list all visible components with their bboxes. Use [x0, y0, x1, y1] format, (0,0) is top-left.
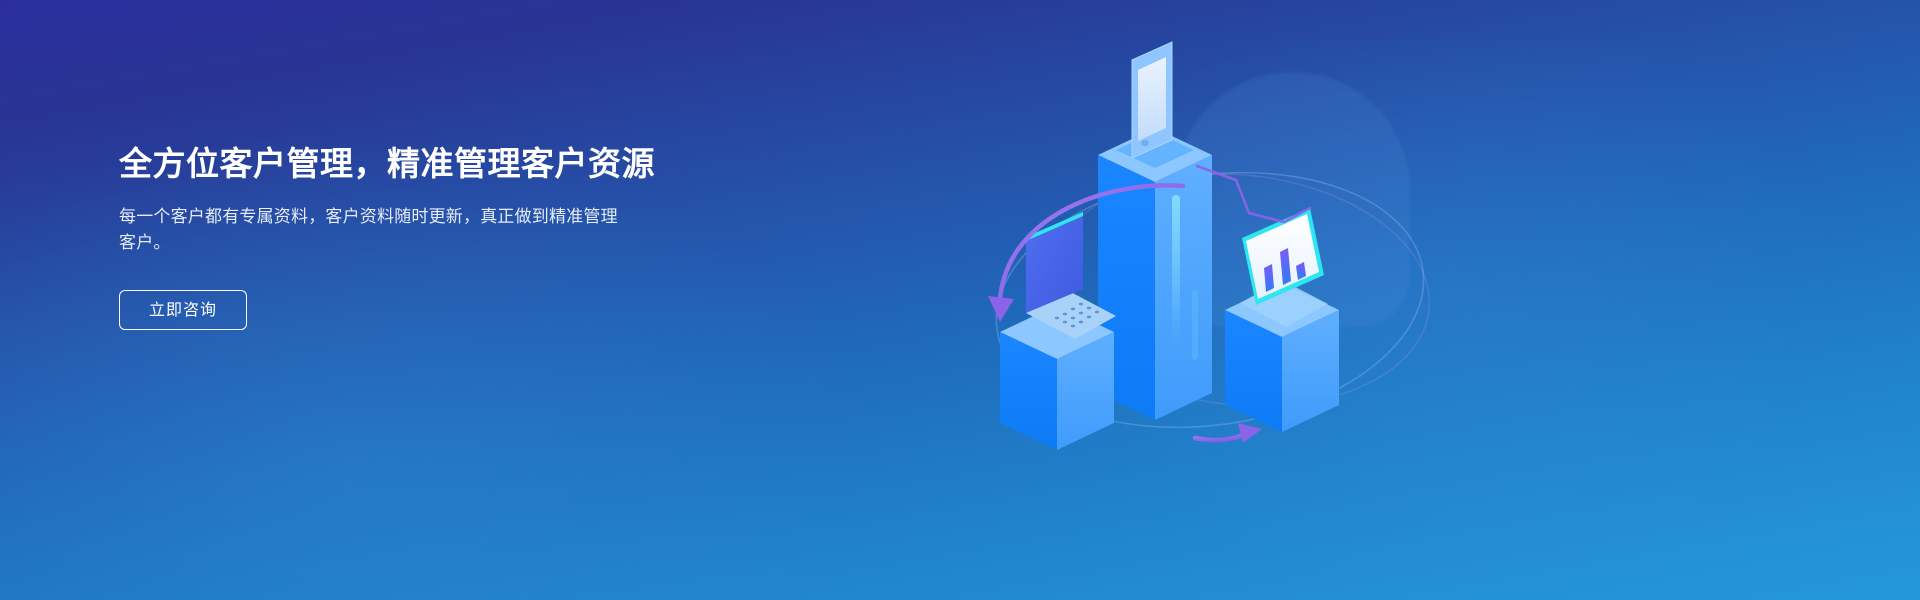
- hero-banner: 全方位客户管理，精准管理客户资源 每一个客户都有专属资料，客户资料随时更新，真正…: [0, 0, 1920, 600]
- pillar-center: [1098, 128, 1212, 420]
- tablet-device-icon: [1116, 42, 1194, 168]
- monitor-bar-chart-icon: [1240, 208, 1328, 327]
- hero-illustration: [940, 0, 1500, 600]
- consult-now-button[interactable]: 立即咨询: [119, 290, 247, 330]
- page-title: 全方位客户管理，精准管理客户资源: [119, 140, 819, 188]
- hero-subtitle: 每一个客户都有专属资料，客户资料随时更新，真正做到精准管理客户。: [119, 204, 619, 256]
- hero-copy-block: 全方位客户管理，精准管理客户资源 每一个客户都有专属资料，客户资料随时更新，真正…: [119, 140, 819, 330]
